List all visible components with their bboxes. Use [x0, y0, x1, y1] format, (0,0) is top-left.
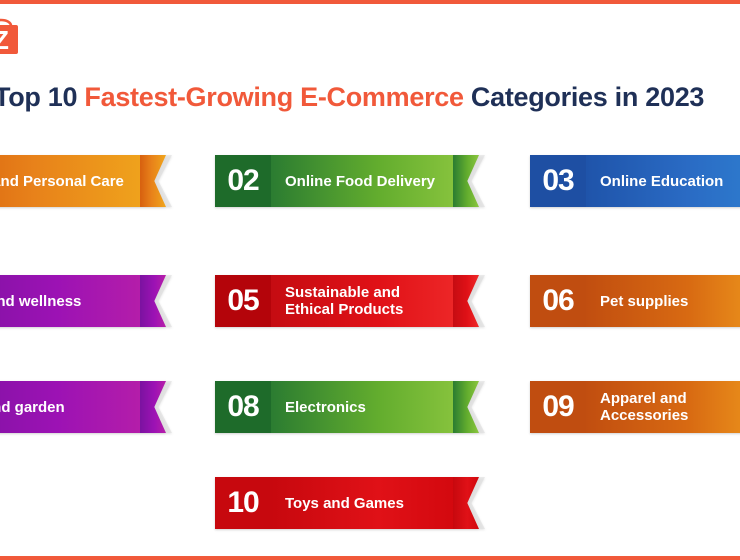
svg-text:Z: Z: [0, 25, 9, 55]
category-label: Beauty and Personal Care: [0, 155, 154, 207]
ribbon-fold-tail: [467, 477, 493, 529]
category-label: Pet supplies: [586, 275, 740, 327]
category-label: Apparel and Accessories: [586, 381, 740, 433]
category-label: Online Education: [586, 155, 740, 207]
rank-number: 08: [215, 381, 271, 433]
title-part-2: Categories in 2023: [464, 82, 704, 112]
title-part-1: Top 10: [0, 82, 84, 112]
category-ribbon-06[interactable]: 06Pet supplies: [530, 275, 740, 327]
top-accent-rule: [0, 0, 740, 4]
category-ribbon-03[interactable]: 03Online Education: [530, 155, 740, 207]
category-ribbon-10[interactable]: 10Toys and Games: [215, 477, 493, 529]
page-title: Top 10 Fastest-Growing E-Commerce Catego…: [0, 80, 740, 114]
ribbon-fold-tail: [467, 275, 493, 327]
ribbon-fold-tail: [467, 155, 493, 207]
ribbon-fold-tail: [154, 381, 180, 433]
shopping-bag-z-logo-icon: Z: [0, 12, 24, 56]
category-label: Sustainable and Ethical Products: [271, 275, 467, 327]
ribbon-fold-tail: [154, 275, 180, 327]
category-ribbon-09[interactable]: 09Apparel and Accessories: [530, 381, 740, 433]
category-label: Electronics: [271, 381, 467, 433]
category-label: Online Food Delivery: [271, 155, 467, 207]
rank-number: 06: [530, 275, 586, 327]
title-accent: Fastest-Growing E-Commerce: [84, 82, 463, 112]
rank-number: 03: [530, 155, 586, 207]
rank-number: 10: [215, 477, 271, 529]
category-label: Health and wellness: [0, 275, 154, 327]
bottom-accent-rule: [0, 556, 740, 560]
category-ribbon-05[interactable]: 05Sustainable and Ethical Products: [215, 275, 493, 327]
rank-number: 02: [215, 155, 271, 207]
rank-number: 05: [215, 275, 271, 327]
ribbon-fold-tail: [467, 381, 493, 433]
infographic-page: Z Top 10 Fastest-Growing E-Commerce Cate…: [0, 0, 740, 560]
category-ribbon-07[interactable]: 07Home and garden: [0, 381, 180, 433]
category-ribbon-01[interactable]: 01Beauty and Personal Care: [0, 155, 180, 207]
rank-number: 09: [530, 381, 586, 433]
category-ribbon-04[interactable]: 04Health and wellness: [0, 275, 180, 327]
ribbon-fold-tail: [154, 155, 180, 207]
category-label: Toys and Games: [271, 477, 467, 529]
category-ribbon-02[interactable]: 02Online Food Delivery: [215, 155, 493, 207]
category-ribbon-08[interactable]: 08Electronics: [215, 381, 493, 433]
category-label: Home and garden: [0, 381, 154, 433]
